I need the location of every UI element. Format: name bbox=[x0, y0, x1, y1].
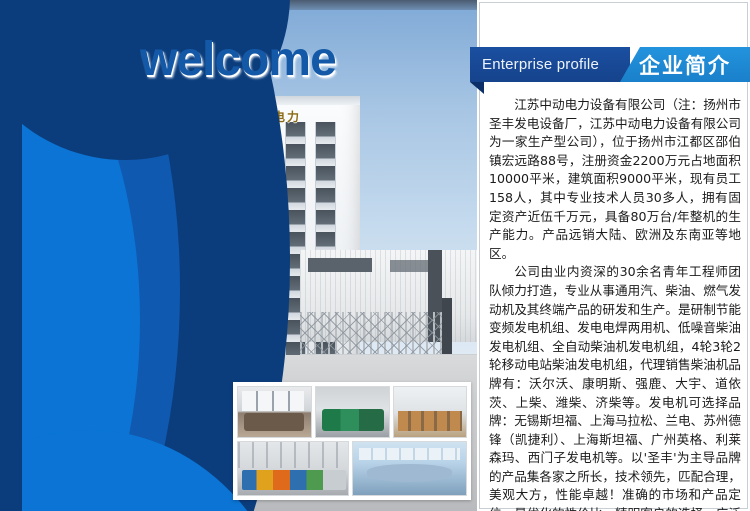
collage-row-top bbox=[237, 386, 467, 438]
hero-photo-area: 中动电力 扬州中动电力设备有限公司 Zhongdong Power Equipm… bbox=[0, 0, 477, 511]
photo-collage bbox=[233, 382, 471, 500]
ribbon-fold-corner bbox=[470, 82, 484, 94]
ribbon-english-label: Enterprise profile bbox=[470, 47, 630, 82]
factory-band bbox=[308, 258, 372, 272]
gate-post bbox=[442, 298, 452, 356]
profile-paragraph-2: 公司由业内资深的30余名青年工程师团队倾力打造，专业从事通用汽、柴油、燃气发动机… bbox=[489, 263, 741, 511]
profile-paragraph-1: 江苏中动电力设备有限公司（注：扬州市圣丰发电设备厂，江苏中动电力设备有限公司为一… bbox=[489, 96, 741, 263]
retractable-gate bbox=[300, 312, 450, 354]
generator-workshop-photo bbox=[315, 386, 390, 438]
section-ribbon: Enterprise profile 企业简介 bbox=[470, 47, 750, 82]
ribbon-chinese-label: 企业简介 bbox=[620, 47, 750, 82]
assembly-line-photo bbox=[237, 441, 349, 496]
company-profile-banner: 中动电力 扬州中动电力设备有限公司 Zhongdong Power Equipm… bbox=[0, 0, 750, 511]
company-profile-text: 江苏中动电力设备有限公司（注：扬州市圣丰发电设备厂，江苏中动电力设备有限公司为一… bbox=[489, 96, 741, 511]
office-area-photo bbox=[393, 386, 467, 438]
collage-row-bottom bbox=[237, 441, 467, 496]
meeting-room-photo bbox=[237, 386, 312, 438]
decor-left-edge-band bbox=[0, 0, 22, 511]
conference-hall-photo bbox=[352, 441, 467, 496]
welcome-heading: welcome bbox=[140, 36, 336, 84]
